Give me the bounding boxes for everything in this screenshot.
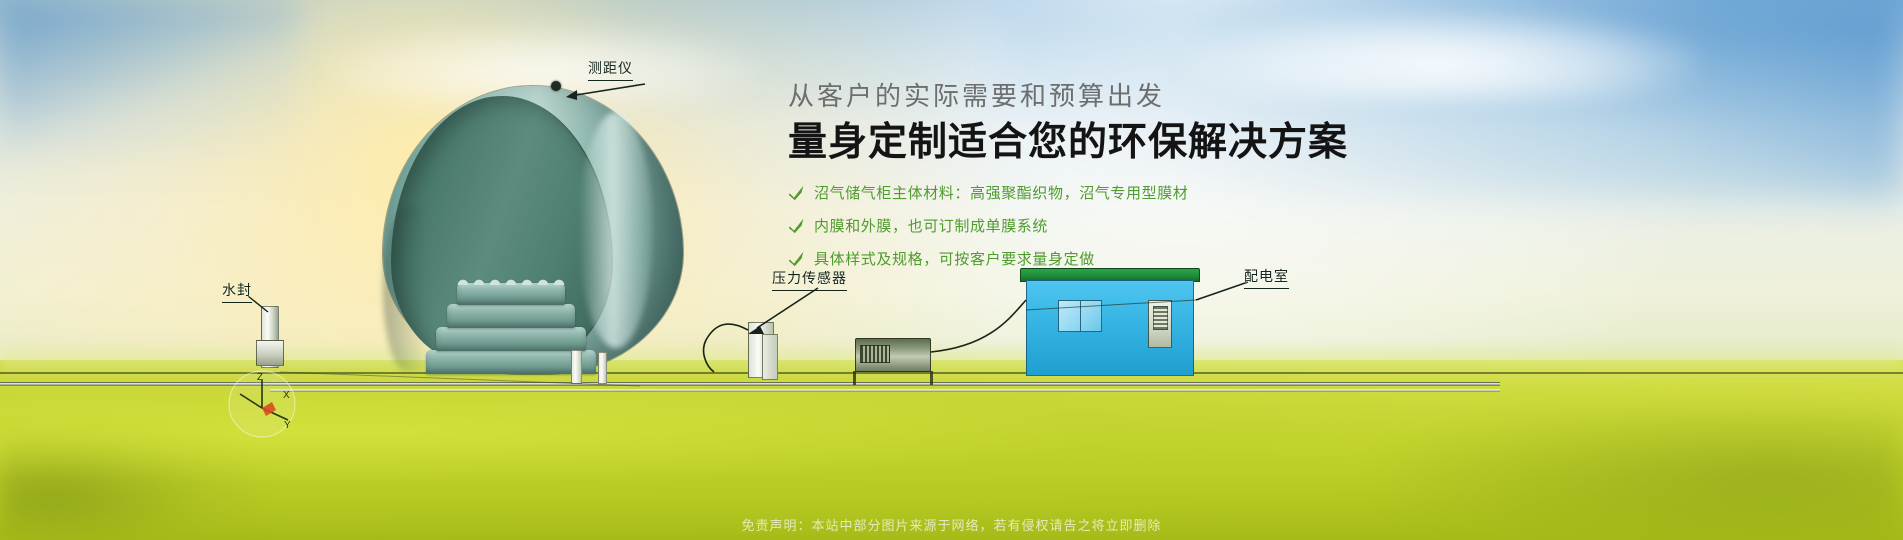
stack-wave-top	[455, 276, 567, 285]
vent-post-b	[598, 352, 607, 384]
feature-bullet-list: 沼气储气柜主体材料：高强聚酯织物，沼气专用型膜材 内膜和外膜，也可订制成单膜系统…	[788, 182, 1508, 269]
rangefinder-sensor-icon	[551, 81, 561, 91]
feature-bullet-text: 内膜和外膜，也可订制成单膜系统	[814, 215, 1048, 236]
panel-subtitle: 从客户的实际需要和预算出发	[788, 80, 1508, 113]
feature-bullet-text: 沼气储气柜主体材料：高强聚酯织物，沼气专用型膜材	[814, 182, 1188, 203]
main-pipeline	[0, 382, 1500, 386]
check-mark-icon	[788, 184, 805, 201]
blower-legs	[853, 371, 933, 385]
marketing-panel: 从客户的实际需要和预算出发 量身定制适合您的环保解决方案 沼气储气柜主体材料：高…	[788, 80, 1508, 281]
blower-grill-icon	[860, 345, 890, 363]
feature-bullet-item: 沼气储气柜主体材料：高强聚酯织物，沼气专用型膜材	[788, 182, 1508, 203]
callout-water-seal-underline	[222, 302, 252, 303]
axis-label-x: X	[283, 390, 290, 401]
axis-label-y: Y	[284, 420, 291, 431]
axis-orientation-gizmo: Z X Y	[226, 368, 298, 440]
control-panel-display-icon	[1153, 306, 1168, 330]
feature-bullet-text: 具体样式及规格，可按客户要求量身定做	[814, 248, 1095, 269]
callout-rangefinder-underline	[588, 80, 633, 81]
sky-gradient-left	[0, 0, 300, 150]
gas-holder-dome	[383, 86, 683, 374]
blower-unit	[855, 338, 931, 372]
panel-title: 量身定制适合您的环保解决方案	[788, 121, 1508, 165]
check-mark-icon	[788, 217, 805, 234]
callout-rangefinder: 测距仪	[588, 58, 633, 81]
callout-pressure-sensor-underline	[772, 290, 847, 291]
callout-power-room-underline	[1244, 288, 1289, 289]
power-room-window	[1058, 300, 1102, 332]
callout-water-seal: 水封	[222, 280, 252, 303]
callout-water-seal-label: 水封	[222, 282, 252, 298]
power-room-control-panel	[1148, 300, 1172, 348]
feature-bullet-item: 具体样式及规格，可按客户要求量身定做	[788, 248, 1508, 269]
check-mark-icon	[788, 250, 805, 267]
vent-post-a	[571, 350, 582, 384]
secondary-pipeline	[270, 389, 1500, 392]
callout-rangefinder-label: 测距仪	[588, 60, 633, 76]
disclaimer-text: 免责声明：本站中部分图片来源于网络，若有侵权请告之将立即删除	[0, 515, 1903, 534]
axis-label-z: Z	[257, 372, 263, 383]
water-seal-base	[256, 340, 284, 366]
feature-bullet-item: 内膜和外膜，也可订制成单膜系统	[788, 215, 1508, 236]
hero-banner: 测距仪 水封 压力传感器 配电室 Z X Y 从客户的实际需要和预算出发 量身定…	[0, 0, 1903, 540]
pressure-sensor-column-secondary	[762, 334, 778, 380]
